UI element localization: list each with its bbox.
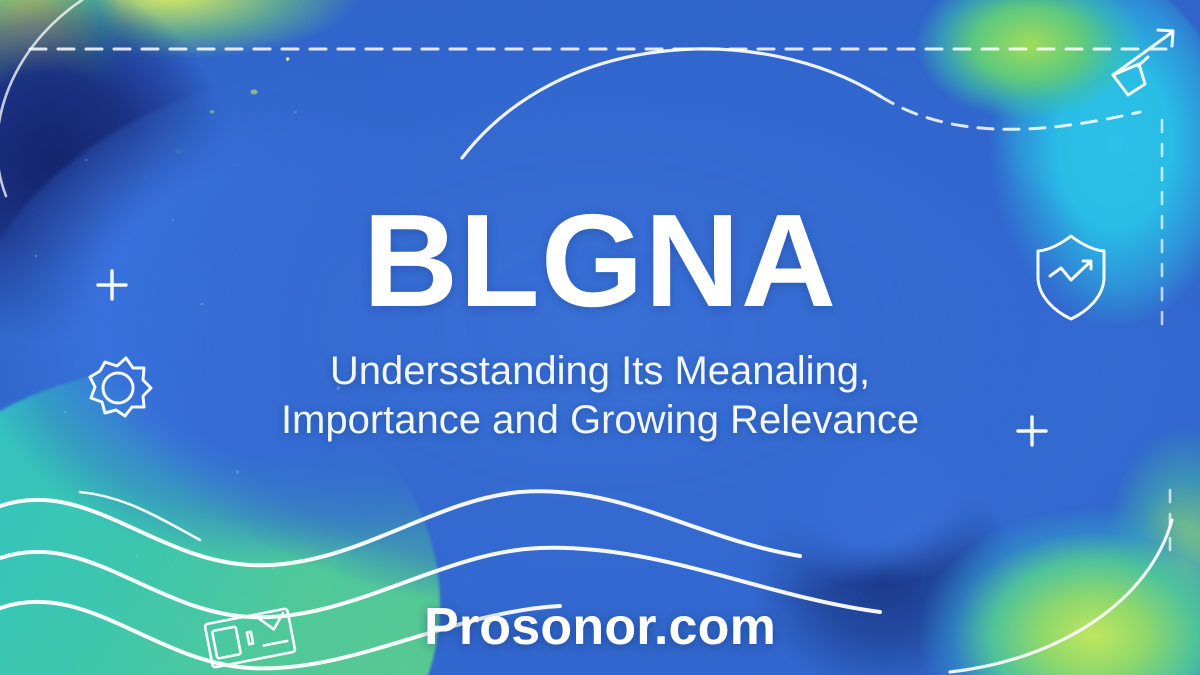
blog-cover-image: BLGNA Undersstanding Its Meanaling, Impo… bbox=[0, 0, 1200, 675]
page-subtitle-line-1: Undersstanding Its Meanaling, bbox=[281, 347, 919, 396]
page-title: BLGNA bbox=[363, 196, 837, 325]
cover-text-block: BLGNA Undersstanding Its Meanaling, Impo… bbox=[0, 0, 1200, 675]
page-subtitle: Undersstanding Its Meanaling, Importance… bbox=[281, 347, 919, 445]
site-watermark: Prosonor.com bbox=[0, 597, 1200, 657]
page-subtitle-line-2: Importance and Growing Relevance bbox=[281, 396, 919, 445]
